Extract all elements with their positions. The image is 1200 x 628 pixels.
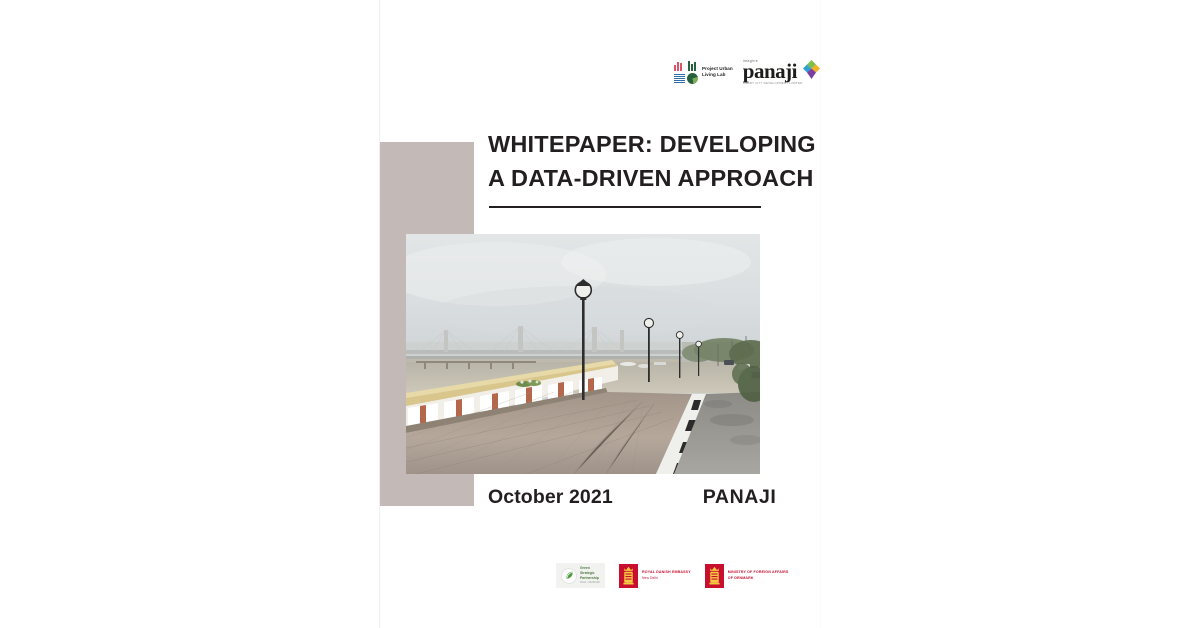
cover-photo bbox=[406, 234, 760, 474]
green-strategic-partnership-logo: Green Strategic Partnership INDIA – DENM… bbox=[556, 563, 605, 588]
wave-lines-icon bbox=[673, 73, 686, 86]
embassy-name: ROYAL DANISH EMBASSY bbox=[642, 570, 691, 575]
embassy-location: New Delhi bbox=[642, 576, 691, 581]
title-line-2: A DATA-DRIVEN APPROACH bbox=[488, 162, 818, 196]
pull-text-line-2: Living Lab bbox=[702, 72, 733, 78]
panaji-wordmark-group: imagine panaji SMART CITY DEVELOPMENT LI… bbox=[743, 59, 803, 85]
royal-danish-embassy-text: ROYAL DANISH EMBASSY New Delhi bbox=[642, 570, 691, 580]
imagine-panaji-logo: imagine panaji SMART CITY DEVELOPMENT LI… bbox=[743, 59, 821, 85]
grid-chart-mark-icon bbox=[673, 59, 699, 85]
danish-crown-crest-icon-2 bbox=[705, 564, 724, 588]
gsp-tagline: INDIA – DENMARK bbox=[580, 582, 600, 585]
screenshot-canvas: Project Urban Living Lab imagine panaji … bbox=[0, 0, 1200, 628]
partner-logo-row: Green Strategic Partnership INDIA – DENM… bbox=[556, 563, 788, 588]
gem-diamond-icon bbox=[803, 60, 820, 79]
ministry-line-2: OF DENMARK bbox=[728, 576, 789, 581]
bar-chart-red-icon bbox=[673, 59, 686, 72]
ministry-line-1: MINISTRY OF FOREIGN AFFAIRS bbox=[728, 570, 789, 575]
ministry-of-foreign-affairs-logo: MINISTRY OF FOREIGN AFFAIRS OF DENMARK bbox=[705, 564, 789, 588]
page-title: WHITEPAPER: DEVELOPING A DATA-DRIVEN APP… bbox=[488, 128, 818, 208]
danish-crown-crest-icon bbox=[619, 564, 638, 588]
ministry-of-foreign-affairs-text: MINISTRY OF FOREIGN AFFAIRS OF DENMARK bbox=[728, 570, 789, 581]
bar-chart-green-icon bbox=[687, 59, 700, 72]
pie-chart-icon bbox=[687, 73, 700, 86]
document-page: Project Urban Living Lab imagine panaji … bbox=[379, 0, 821, 628]
project-urban-living-lab-text: Project Urban Living Lab bbox=[702, 66, 733, 78]
project-urban-living-lab-logo: Project Urban Living Lab bbox=[673, 59, 733, 85]
header-logo-row: Project Urban Living Lab imagine panaji … bbox=[673, 59, 820, 85]
panaji-wordmark: panaji bbox=[743, 63, 797, 80]
gsp-line-3: Partnership bbox=[580, 576, 600, 581]
publication-date: October 2021 bbox=[488, 486, 613, 509]
green-leaf-icon bbox=[561, 568, 577, 584]
title-divider bbox=[489, 206, 761, 208]
city-label: PANAJI bbox=[703, 486, 777, 509]
cover-caption-row: October 2021 PANAJI bbox=[488, 486, 788, 509]
royal-danish-embassy-logo: ROYAL DANISH EMBASSY New Delhi bbox=[619, 564, 691, 588]
panaji-tagline: SMART CITY DEVELOPMENT LIMITED bbox=[743, 81, 803, 85]
title-line-1: WHITEPAPER: DEVELOPING bbox=[488, 128, 818, 162]
green-strategic-partnership-text: Green Strategic Partnership INDIA – DENM… bbox=[580, 566, 600, 585]
